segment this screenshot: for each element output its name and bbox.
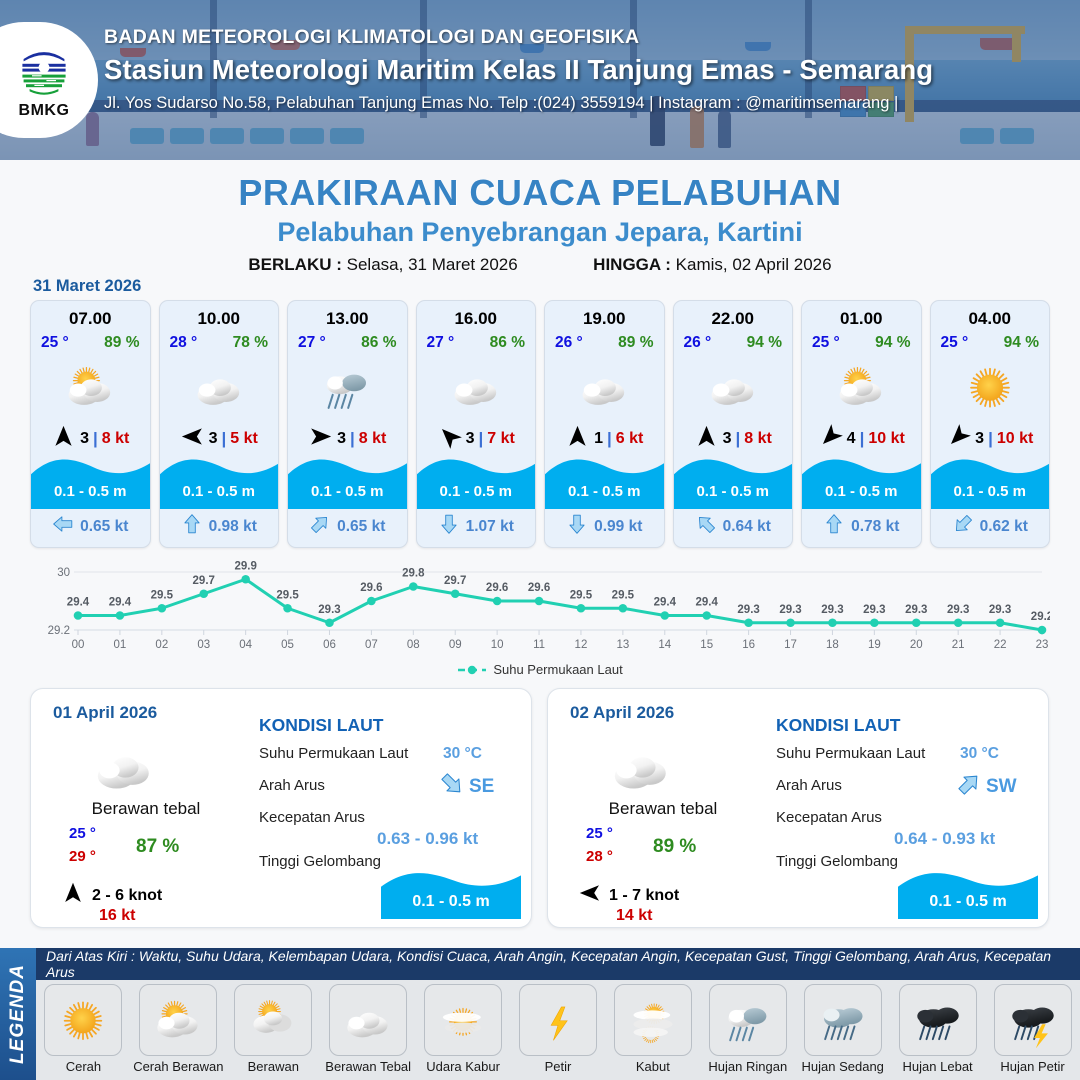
wind-speed: 3 — [80, 430, 89, 448]
forecast-time: 01.00 — [802, 309, 921, 329]
block-arrow-se-icon — [439, 771, 465, 802]
gust-speed: 7 kt — [487, 430, 515, 448]
current-speed: 0.64 kt — [723, 518, 771, 536]
current-row: 0.64 kt — [674, 513, 793, 540]
air-temperature: 26 ° — [555, 334, 583, 352]
forecast-temp-hum-row: 27 ° 86 % — [417, 334, 536, 352]
air-temperature: 27 ° — [298, 334, 326, 352]
page-title: PRAKIRAAN CUACA PELABUHAN — [0, 172, 1080, 214]
legend-item-label: Berawan Tebal — [325, 1059, 411, 1074]
wind-speed: 3 — [466, 430, 475, 448]
svg-text:29.3: 29.3 — [779, 604, 801, 616]
legend-note: Dari Atas Kiri : Waktu, Suhu Udara, Kele… — [36, 948, 1080, 980]
svg-text:05: 05 — [281, 639, 294, 651]
haze-icon — [424, 984, 502, 1056]
bmkg-logo-text: BMKG — [19, 102, 70, 120]
forecast-time: 19.00 — [545, 309, 664, 329]
forecast-time: 10.00 — [160, 309, 279, 329]
svg-text:13: 13 — [616, 639, 629, 651]
legend-tab: LEGENDA — [0, 948, 36, 1080]
block-arrow-n-icon — [181, 513, 203, 540]
arrow-n-icon — [51, 424, 76, 454]
agency-name: BADAN METEOROLOGI KLIMATOLOGI DAN GEOFIS… — [104, 26, 933, 49]
block-arrow-n-icon — [823, 513, 845, 540]
wind-range: 1 - 7 knot — [609, 887, 679, 905]
block-arrow-sw-icon — [952, 513, 974, 540]
forecast-temp-hum-row: 25 ° 94 % — [931, 334, 1050, 352]
arrow-n-icon — [565, 424, 590, 454]
wind-separator: | — [860, 429, 865, 449]
svg-text:29.7: 29.7 — [444, 575, 466, 587]
header-text-block: BADAN METEOROLOGI KLIMATOLOGI DAN GEOFIS… — [104, 26, 933, 113]
svg-text:04: 04 — [239, 639, 252, 651]
svg-text:29.4: 29.4 — [109, 597, 132, 609]
svg-text:01: 01 — [114, 639, 127, 651]
current-speed: 1.07 kt — [466, 518, 514, 536]
svg-text:29.3: 29.3 — [821, 604, 843, 616]
gust-speed: 5 kt — [230, 430, 258, 448]
page-subtitle: Pelabuhan Penyebrangan Jepara, Kartini — [0, 217, 1080, 248]
forecast-temp-hum-row: 26 ° 89 % — [545, 334, 664, 352]
svg-text:02: 02 — [155, 639, 168, 651]
svg-text:10: 10 — [491, 639, 504, 651]
svg-text:17: 17 — [784, 639, 797, 651]
svg-text:14: 14 — [658, 639, 671, 651]
air-temperature: 28 ° — [170, 334, 198, 352]
sst-value: 30 °C — [443, 745, 482, 763]
wave-graphic — [931, 453, 1050, 509]
svg-text:29.7: 29.7 — [193, 575, 215, 587]
forecast-temp-hum-row: 28 ° 78 % — [160, 334, 279, 352]
wind-row: 1 | 6 kt — [545, 426, 664, 452]
cloud-icon — [674, 356, 793, 418]
svg-text:15: 15 — [700, 639, 713, 651]
svg-text:29.9: 29.9 — [234, 560, 256, 572]
wind-row: 3 | 10 kt — [931, 426, 1050, 452]
humidity: 87 % — [136, 836, 179, 858]
legend-tab-label: LEGENDA — [7, 964, 29, 1064]
daily-summary-panel[interactable]: 02 April 2026 Berawan tebal 25 ° 28 ° 89… — [547, 688, 1049, 928]
wave-height: 0.1 - 0.5 m — [31, 483, 150, 500]
weather-condition: Berawan tebal — [51, 799, 241, 819]
forecast-card[interactable]: 07.00 25 ° 89 % 3 | 8 kt — [30, 300, 151, 548]
arrow-n-icon — [61, 881, 85, 910]
gust-speed: 8 kt — [102, 430, 130, 448]
current-speed-value: 0.63 - 0.96 kt — [377, 829, 478, 849]
valid-to-label: HINGGA : — [593, 255, 671, 274]
humidity: 89 % — [618, 334, 653, 352]
sst-chart: 3029.229.40029.40129.50229.70329.90429.5… — [30, 558, 1050, 683]
valid-from-value: Selasa, 31 Maret 2026 — [347, 255, 518, 274]
current-row: 0.98 kt — [160, 513, 279, 540]
current-speed: 0.99 kt — [594, 518, 642, 536]
current-speed: 0.98 kt — [209, 518, 257, 536]
svg-text:29.2: 29.2 — [1031, 611, 1050, 623]
arrow-w-icon — [180, 424, 205, 454]
cloud-sun-icon — [234, 984, 312, 1056]
humidity: 94 % — [1004, 334, 1039, 352]
daily-summary-panel[interactable]: 01 April 2026 Berawan tebal 25 ° 29 ° 87… — [30, 688, 532, 928]
heavy-rain-icon — [899, 984, 977, 1056]
forecast-time: 13.00 — [288, 309, 407, 329]
air-temperature: 25 ° — [41, 334, 69, 352]
wave-height-value: 0.1 - 0.5 m — [381, 893, 521, 911]
humidity: 94 % — [747, 334, 782, 352]
summary-date: 01 April 2026 — [53, 703, 157, 723]
cloud-icon — [545, 356, 664, 418]
legend-item-label: Berawan — [248, 1059, 299, 1074]
svg-text:29.3: 29.3 — [737, 604, 759, 616]
forecast-temp-hum-row: 26 ° 94 % — [674, 334, 793, 352]
svg-text:29.6: 29.6 — [528, 582, 550, 594]
svg-text:29.3: 29.3 — [989, 604, 1011, 616]
svg-text:12: 12 — [575, 639, 588, 651]
wave-height: 0.1 - 0.5 m — [160, 483, 279, 500]
svg-text:29.5: 29.5 — [151, 589, 174, 601]
current-direction-label: Arah Arus — [259, 777, 325, 794]
legend-item-row: Cerah Cerah Berawan — [36, 980, 1080, 1080]
humidity: 86 % — [361, 334, 396, 352]
chart-legend-marker-icon — [457, 664, 487, 676]
current-speed: 0.78 kt — [851, 518, 899, 536]
svg-text:29.4: 29.4 — [67, 597, 90, 609]
svg-text:07: 07 — [365, 639, 378, 651]
svg-text:29.5: 29.5 — [612, 589, 635, 601]
valid-to-value: Kamis, 02 April 2026 — [676, 255, 832, 274]
current-row: 0.99 kt — [545, 513, 664, 540]
arrow-nw-icon — [437, 424, 462, 454]
wave-height-label: Tinggi Gelombang — [259, 853, 381, 870]
svg-text:29.6: 29.6 — [360, 582, 382, 594]
wind-row: 4 | 10 kt — [802, 426, 921, 452]
wind-separator: | — [350, 429, 355, 449]
legend-item: Udara Kabur — [417, 984, 509, 1074]
svg-text:19: 19 — [868, 639, 881, 651]
forecast-card[interactable]: 10.00 28 ° 78 % 3 | 5 kt — [159, 300, 280, 548]
wave-graphic — [288, 453, 407, 509]
arrow-w-icon — [578, 881, 602, 910]
current-row: 0.78 kt — [802, 513, 921, 540]
sun-cloud-icon — [31, 356, 150, 418]
wave-graphic — [31, 453, 150, 509]
contact-info: Jl. Yos Sudarso No.58, Pelabuhan Tanjung… — [104, 94, 933, 113]
legend-item: Kabut — [607, 984, 699, 1074]
temp-max: 29 ° — [69, 848, 96, 865]
cloud-icon — [160, 356, 279, 418]
forecast-card[interactable]: 13.00 27 ° 86 % 3 | 8 kt 0.1 - 0.5 m — [287, 300, 408, 548]
block-arrow-s-icon — [438, 513, 460, 540]
page-header: BMKG BADAN METEOROLOGI KLIMATOLOGI DAN G… — [0, 0, 1080, 160]
thunderstorm-icon — [994, 984, 1072, 1056]
gust-speed: 16 kt — [99, 907, 135, 925]
summary-date: 02 April 2026 — [570, 703, 674, 723]
svg-text:29.3: 29.3 — [905, 604, 927, 616]
humidity: 89 % — [104, 334, 139, 352]
legend-item-label: Kabut — [636, 1059, 670, 1074]
current-speed-label: Kecepatan Arus — [776, 809, 882, 826]
air-temperature: 27 ° — [427, 334, 455, 352]
legend-item-label: Hujan Sedang — [802, 1059, 884, 1074]
wave-graphic — [545, 453, 664, 509]
wave-graphic — [674, 453, 793, 509]
legend-item-label: Cerah — [66, 1059, 101, 1074]
svg-text:29.5: 29.5 — [276, 589, 299, 601]
current-direction-value: SE — [469, 776, 494, 798]
wind-speed: 3 — [723, 430, 732, 448]
legend-item: Hujan Lebat — [892, 984, 984, 1074]
current-direction-value-row: SE — [439, 771, 494, 802]
wave-height: 0.1 - 0.5 m — [288, 483, 407, 500]
cloud-icon — [603, 731, 679, 806]
humidity: 89 % — [653, 836, 696, 858]
legend-item: Berawan — [227, 984, 319, 1074]
wind-speed: 3 — [209, 430, 218, 448]
arrow-e-icon — [308, 424, 333, 454]
humidity: 78 % — [233, 334, 268, 352]
gust-speed: 14 kt — [616, 907, 652, 925]
wind-speed: 3 — [337, 430, 346, 448]
legend-item-label: Hujan Ringan — [708, 1059, 787, 1074]
svg-text:29.5: 29.5 — [570, 589, 593, 601]
current-row: 0.62 kt — [931, 513, 1050, 540]
gust-speed: 10 kt — [997, 430, 1033, 448]
wind-separator: | — [479, 429, 484, 449]
validity-line: BERLAKU : Selasa, 31 Maret 2026 HINGGA :… — [0, 255, 1080, 275]
svg-text:29.4: 29.4 — [696, 597, 719, 609]
temp-min: 25 ° — [586, 825, 613, 842]
valid-from-label: BERLAKU : — [248, 255, 342, 274]
svg-text:03: 03 — [197, 639, 210, 651]
svg-text:29.6: 29.6 — [486, 582, 508, 594]
weather-condition: Berawan tebal — [568, 799, 758, 819]
sun-icon — [931, 356, 1050, 418]
lightning-icon — [519, 984, 597, 1056]
gust-speed: 8 kt — [744, 430, 772, 448]
gust-speed: 8 kt — [359, 430, 387, 448]
forecast-card[interactable]: 04.00 25 ° 94 % 3 | 10 kt 0.1 - 0.5 — [930, 300, 1051, 548]
air-temperature: 25 ° — [812, 334, 840, 352]
svg-text:20: 20 — [910, 639, 923, 651]
legend-item: Petir — [512, 984, 604, 1074]
sun-cloud-icon — [139, 984, 217, 1056]
wave-graphic — [802, 453, 921, 509]
temp-max: 28 ° — [586, 848, 613, 865]
current-row: 0.65 kt — [31, 513, 150, 540]
sst-chart-svg: 3029.229.40029.40129.50229.70329.90429.5… — [30, 558, 1050, 658]
legend-item-label: Hujan Lebat — [903, 1059, 973, 1074]
svg-text:29.3: 29.3 — [318, 604, 340, 616]
wave-graphic — [160, 453, 279, 509]
current-speed: 0.65 kt — [337, 518, 385, 536]
chart-legend-label: Suhu Permukaan Laut — [493, 662, 622, 677]
current-direction-value-row: SW — [956, 771, 1017, 802]
current-speed-value: 0.64 - 0.93 kt — [894, 829, 995, 849]
svg-text:09: 09 — [449, 639, 462, 651]
moderate-rain-icon — [804, 984, 882, 1056]
current-direction-value: SW — [986, 776, 1017, 798]
forecast-temp-hum-row: 25 ° 94 % — [802, 334, 921, 352]
humidity: 86 % — [490, 334, 525, 352]
svg-text:29.8: 29.8 — [402, 568, 425, 580]
block-arrow-nw-icon — [695, 513, 717, 540]
cloud-icon — [417, 356, 536, 418]
svg-text:29.3: 29.3 — [863, 604, 885, 616]
wind-separator: | — [607, 429, 612, 449]
forecast-card[interactable]: 16.00 27 ° 86 % 3 | 7 kt — [416, 300, 537, 548]
legend-section: LEGENDA Dari Atas Kiri : Waktu, Suhu Uda… — [0, 948, 1080, 1080]
forecast-card-row: 07.00 25 ° 89 % 3 | 8 kt — [30, 300, 1050, 548]
sea-condition-header: KONDISI LAUT — [259, 715, 383, 736]
svg-text:08: 08 — [407, 639, 420, 651]
svg-text:06: 06 — [323, 639, 336, 651]
arrow-sw-icon — [946, 424, 971, 454]
wind-range: 2 - 6 knot — [92, 887, 162, 905]
block-arrow-w-icon — [52, 513, 74, 540]
current-row: 0.65 kt — [288, 513, 407, 540]
wind-row: 3 | 5 kt — [160, 426, 279, 452]
rain-icon — [288, 356, 407, 418]
svg-text:29.3: 29.3 — [947, 604, 969, 616]
block-arrow-s-icon — [566, 513, 588, 540]
sun-cloud-icon — [802, 356, 921, 418]
forecast-date-label: 31 Maret 2026 — [33, 277, 141, 296]
fog-icon — [614, 984, 692, 1056]
sea-condition-header: KONDISI LAUT — [776, 715, 900, 736]
light-rain-icon — [709, 984, 787, 1056]
forecast-time: 16.00 — [417, 309, 536, 329]
legend-item: Hujan Ringan — [702, 984, 794, 1074]
current-speed-label: Kecepatan Arus — [259, 809, 365, 826]
wind-row: 1 - 7 knot — [578, 881, 679, 910]
legend-item: Hujan Petir — [987, 984, 1079, 1074]
temperature-range: 25 ° 29 ° — [69, 825, 96, 865]
daily-summary-row: 01 April 2026 Berawan tebal 25 ° 29 ° 87… — [30, 688, 1050, 928]
wave-height: 0.1 - 0.5 m — [545, 483, 664, 500]
wind-row: 3 | 8 kt — [288, 426, 407, 452]
current-direction-label: Arah Arus — [776, 777, 842, 794]
wave-height: 0.1 - 0.5 m — [802, 483, 921, 500]
wave-height-label: Tinggi Gelombang — [776, 853, 898, 870]
temp-min: 25 ° — [69, 825, 96, 842]
legend-item-label: Udara Kabur — [426, 1059, 500, 1074]
forecast-card[interactable]: 01.00 25 ° 94 % 4 | 10 kt — [801, 300, 922, 548]
forecast-time: 04.00 — [931, 309, 1050, 329]
sst-label: Suhu Permukaan Laut — [259, 745, 408, 762]
wind-separator: | — [222, 429, 227, 449]
forecast-card[interactable]: 22.00 26 ° 94 % 3 | 8 kt — [673, 300, 794, 548]
arrow-sw-icon — [818, 424, 843, 454]
current-row: 1.07 kt — [417, 513, 536, 540]
sst-value: 30 °C — [960, 745, 999, 763]
forecast-temp-hum-row: 25 ° 89 % — [31, 334, 150, 352]
wind-speed: 3 — [975, 430, 984, 448]
svg-text:16: 16 — [742, 639, 755, 651]
current-speed: 0.65 kt — [80, 518, 128, 536]
svg-text:30: 30 — [57, 567, 70, 579]
svg-text:18: 18 — [826, 639, 839, 651]
wave-height: 0.1 - 0.5 m — [417, 483, 536, 500]
block-arrow-ne-icon — [956, 771, 982, 802]
wind-row: 2 - 6 knot — [61, 881, 162, 910]
block-arrow-ne-icon — [309, 513, 331, 540]
bmkg-emblem-icon — [14, 41, 74, 101]
air-temperature: 25 ° — [941, 334, 969, 352]
wave-height-value: 0.1 - 0.5 m — [898, 893, 1038, 911]
humidity: 94 % — [875, 334, 910, 352]
legend-item: Cerah — [37, 984, 129, 1074]
forecast-time: 07.00 — [31, 309, 150, 329]
forecast-temp-hum-row: 27 ° 86 % — [288, 334, 407, 352]
legend-item: Cerah Berawan — [132, 984, 224, 1074]
svg-text:29.2: 29.2 — [48, 625, 70, 637]
station-name: Stasiun Meteorologi Maritim Kelas II Tan… — [104, 54, 933, 86]
title-section: PRAKIRAAN CUACA PELABUHAN Pelabuhan Peny… — [0, 160, 1080, 275]
wind-separator: | — [736, 429, 741, 449]
temperature-range: 25 ° 28 ° — [586, 825, 613, 865]
current-speed: 0.62 kt — [980, 518, 1028, 536]
wave-height: 0.1 - 0.5 m — [674, 483, 793, 500]
sst-label: Suhu Permukaan Laut — [776, 745, 925, 762]
wind-speed: 1 — [594, 430, 603, 448]
svg-text:29.4: 29.4 — [654, 597, 677, 609]
gust-speed: 6 kt — [616, 430, 644, 448]
chart-legend: Suhu Permukaan Laut — [30, 662, 1050, 677]
forecast-card[interactable]: 19.00 26 ° 89 % 1 | 6 kt — [544, 300, 665, 548]
legend-item-label: Hujan Petir — [1000, 1059, 1064, 1074]
legend-item: Hujan Sedang — [797, 984, 889, 1074]
wave-graphic — [417, 453, 536, 509]
gust-speed: 10 kt — [868, 430, 904, 448]
cloud-icon — [86, 731, 162, 806]
wind-row: 3 | 7 kt — [417, 426, 536, 452]
wind-separator: | — [988, 429, 993, 449]
wind-speed: 4 — [847, 430, 856, 448]
forecast-time: 22.00 — [674, 309, 793, 329]
wind-row: 3 | 8 kt — [674, 426, 793, 452]
svg-text:22: 22 — [994, 639, 1007, 651]
air-temperature: 26 ° — [684, 334, 712, 352]
wind-row: 3 | 8 kt — [31, 426, 150, 452]
legend-item-label: Petir — [545, 1059, 572, 1074]
sun-icon — [44, 984, 122, 1056]
legend-item-label: Cerah Berawan — [133, 1059, 223, 1074]
arrow-n-icon — [694, 424, 719, 454]
wave-height: 0.1 - 0.5 m — [931, 483, 1050, 500]
legend-item: Berawan Tebal — [322, 984, 414, 1074]
svg-text:11: 11 — [533, 639, 545, 651]
svg-text:21: 21 — [952, 639, 965, 651]
svg-text:00: 00 — [72, 639, 85, 651]
svg-text:23: 23 — [1036, 639, 1049, 651]
cloud-icon — [329, 984, 407, 1056]
wind-separator: | — [93, 429, 98, 449]
